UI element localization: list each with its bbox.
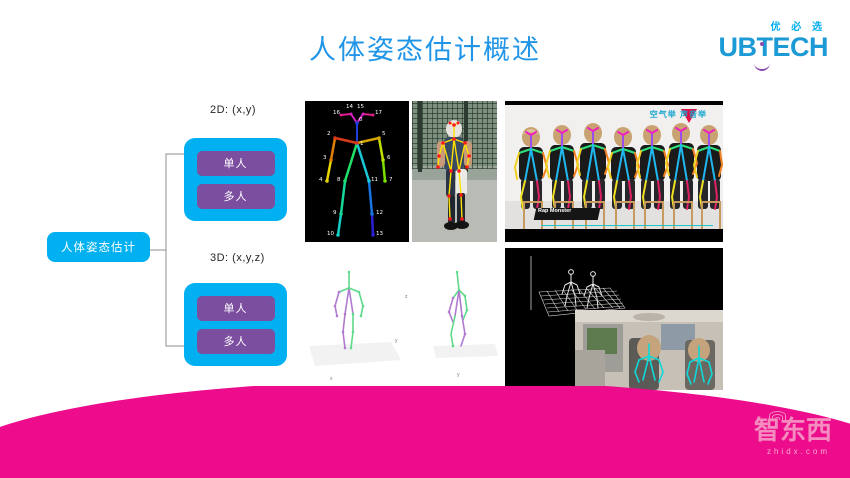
- plot-axis-label-x-left: x: [330, 376, 333, 382]
- keypoint-label-6: 6: [387, 155, 391, 161]
- branch-caption-2d: 2D: (x,y): [210, 104, 256, 116]
- ubtech-logo-latin-text: UBTECH: [719, 32, 829, 62]
- figure-keypoint-skeleton: 0 1 2 3 4 5 6 7 8 9 10 11 12 13 14 15 16…: [305, 101, 409, 242]
- keypoint-label-0: 0: [359, 117, 363, 123]
- branch-group-2d: 单人 多人: [184, 138, 287, 221]
- ubtech-logo-cn-text: 优 必 选: [770, 18, 826, 33]
- branch-2d-item-single[interactable]: 单人: [197, 151, 275, 176]
- ubtech-logo: 优 必 选 UBTECH: [710, 18, 828, 70]
- car-interior-pose-overlay: [575, 310, 723, 390]
- plot-axis-label-y-left: y: [395, 338, 398, 344]
- branch-3d-item-single[interactable]: 单人: [197, 296, 275, 321]
- keypoint-label-9: 9: [333, 210, 337, 216]
- car-interior-inset: [575, 310, 723, 390]
- figure-multi-person-3d: [505, 248, 723, 390]
- show-name-tag-label: Rap Monster: [538, 208, 598, 220]
- zhidx-watermark-cn: 智东西: [754, 416, 832, 444]
- zhidx-watermark: 智东西 zhidx.com: [740, 412, 832, 456]
- show-progress-line: [541, 225, 713, 227]
- figure-single-person-3d-plot: z y x y: [305, 250, 500, 390]
- footer-band: 智东西 zhidx.com: [0, 386, 850, 478]
- keypoint-label-15: 15: [357, 104, 364, 110]
- keypoint-label-5: 5: [382, 131, 386, 137]
- ubtech-logo-smile-icon: [754, 61, 770, 71]
- branch-caption-3d: 3D: (x,y,z): [210, 252, 265, 264]
- figure-multi-person-2d: 空气举 声音举 Rap Monster: [505, 101, 723, 242]
- branch-group-3d: 单人 多人: [184, 283, 287, 366]
- keypoint-label-14: 14: [346, 104, 353, 110]
- keypoint-label-1: 1: [360, 141, 364, 147]
- single-person-pose-overlay: [412, 101, 497, 242]
- keypoint-skeleton-graphic: [305, 101, 409, 242]
- keypoint-label-8: 8: [337, 177, 341, 183]
- diagram-root-node: 人体姿态估计: [47, 232, 150, 262]
- zhidx-watermark-en: zhidx.com: [767, 447, 830, 456]
- keypoint-label-2: 2: [327, 131, 331, 137]
- keypoint-label-7: 7: [389, 177, 393, 183]
- show-overlay-title: 空气举 声音举: [650, 109, 707, 120]
- branch-2d-item-multi[interactable]: 多人: [197, 184, 275, 209]
- ubtech-logo-dot-icon: [760, 42, 764, 46]
- keypoint-label-3: 3: [323, 155, 327, 161]
- keypoint-label-17: 17: [375, 110, 382, 116]
- keypoint-label-4: 4: [319, 177, 323, 183]
- keypoint-label-11: 11: [371, 177, 378, 183]
- footer-curve-shape: [0, 386, 850, 478]
- plot-axis-label-z-left: z: [405, 294, 408, 300]
- branch-3d-item-multi[interactable]: 多人: [197, 329, 275, 354]
- figure-single-person-photo: [412, 101, 497, 242]
- keypoint-label-13: 13: [376, 231, 383, 237]
- keypoint-label-10: 10: [327, 231, 334, 237]
- pose-3d-plot-graphic: [305, 250, 500, 390]
- keypoint-label-12: 12: [376, 210, 383, 216]
- keypoint-label-16: 16: [333, 110, 340, 116]
- slide-canvas: 人体姿态估计概述 优 必 选 UBTECH 人体姿态估计 2D: (x,y) 单…: [0, 0, 850, 478]
- plot-axis-label-y-right: y: [457, 372, 460, 378]
